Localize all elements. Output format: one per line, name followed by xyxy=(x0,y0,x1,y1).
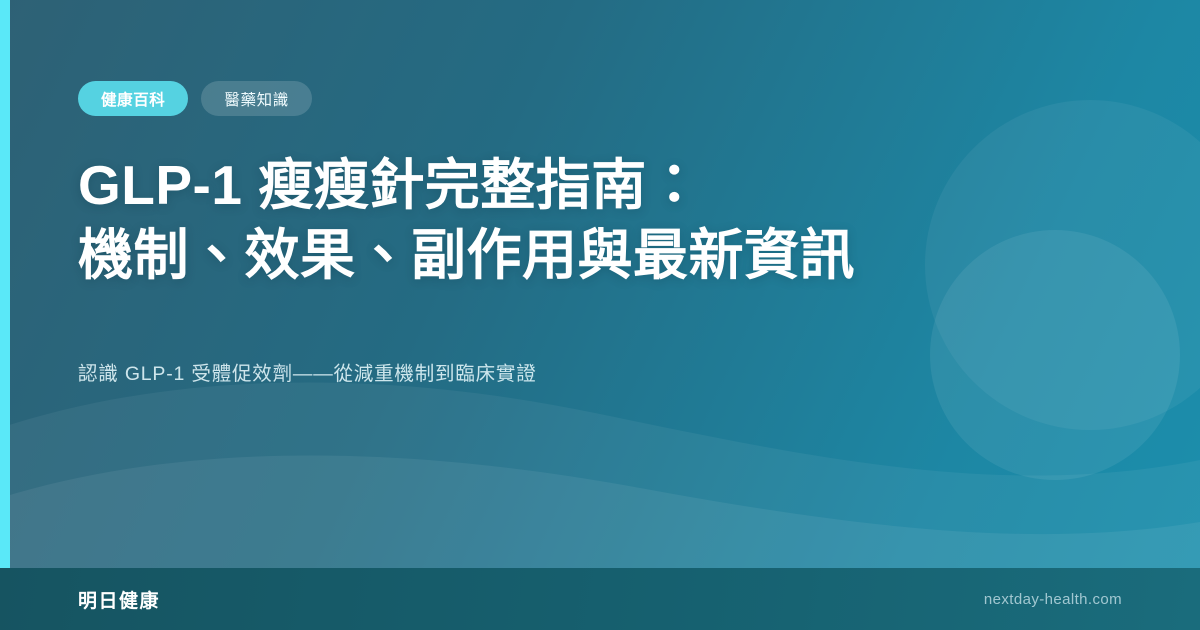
card-footer: 明日健康 nextday-health.com xyxy=(0,568,1200,630)
badge-medicine-knowledge[interactable]: 醫藥知識 xyxy=(201,81,311,116)
social-share-card: 健康百科 醫藥知識 GLP-1 瘦瘦針完整指南： 機制、效果、副作用與最新資訊 … xyxy=(0,0,1200,630)
badge-health-encyclopedia[interactable]: 健康百科 xyxy=(78,81,188,116)
category-badge-group: 健康百科 醫藥知識 xyxy=(78,81,312,116)
hero-content: 健康百科 醫藥知識 GLP-1 瘦瘦針完整指南： 機制、效果、副作用與最新資訊 … xyxy=(78,0,1120,568)
left-accent-bar xyxy=(0,0,10,568)
page-subtitle: 認識 GLP-1 受體促效劑——從減重機制到臨床實證 xyxy=(78,360,537,389)
page-title-line-1: GLP-1 瘦瘦針完整指南： xyxy=(78,150,855,220)
footer-brand-name: 明日健康 xyxy=(78,586,160,613)
footer-site-url: nextday-health.com xyxy=(984,591,1122,608)
page-title: GLP-1 瘦瘦針完整指南： 機制、效果、副作用與最新資訊 xyxy=(78,150,855,291)
page-title-line-2: 機制、效果、副作用與最新資訊 xyxy=(78,220,855,290)
